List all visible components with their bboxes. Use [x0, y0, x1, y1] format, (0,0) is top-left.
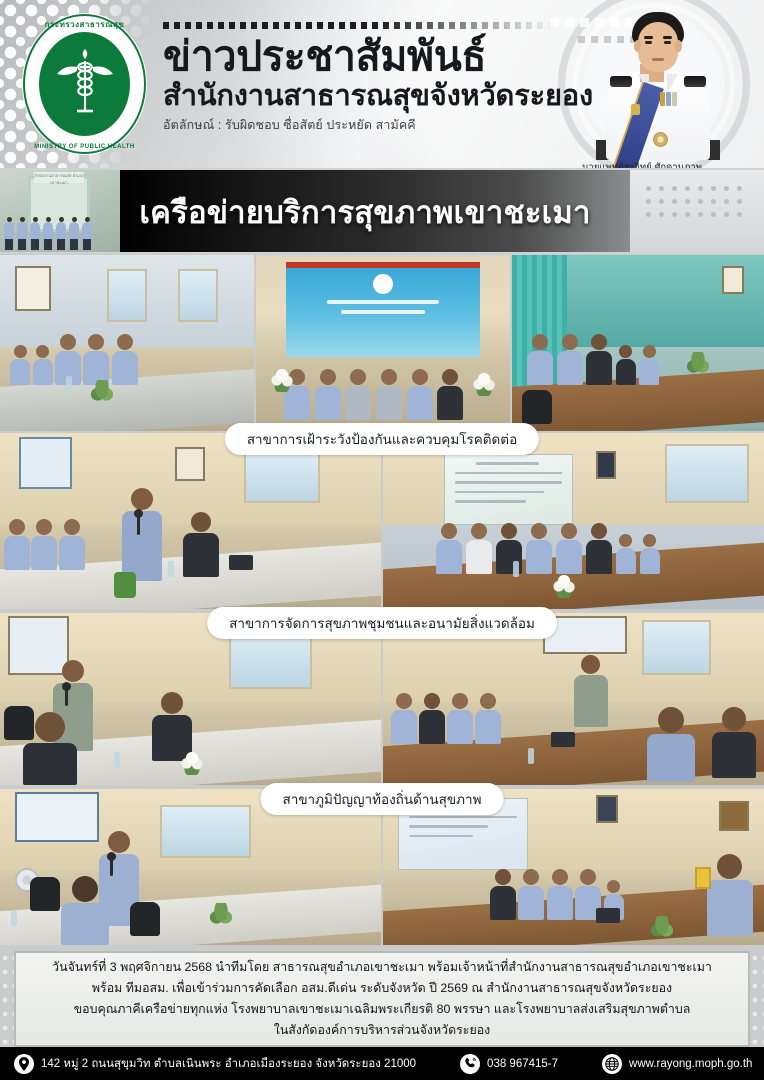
photo-window — [665, 444, 749, 504]
photo-green-box — [114, 572, 136, 598]
band-photo-person — [30, 222, 40, 250]
page-title: ข่าวประชาสัมพันธ์ — [163, 33, 563, 79]
photo-chair — [130, 902, 160, 936]
photo-plant — [651, 916, 673, 942]
photo-screen-line — [409, 816, 517, 819]
photo-chair — [30, 877, 60, 911]
band-dot-pattern — [642, 182, 746, 222]
photo-award-recipients — [284, 369, 440, 420]
portrait-eye-right — [664, 41, 671, 44]
photo-poster — [15, 792, 99, 842]
photo-plant — [91, 380, 113, 406]
portrait-brow-left — [644, 36, 653, 39]
poster-root: กระทรวงสาธารณสุข MINISTRY OF PUBLIC HEAL… — [0, 0, 764, 1080]
photo-person — [616, 345, 636, 385]
photo-person — [556, 523, 582, 574]
photo-meeting-room-1 — [0, 255, 254, 431]
portrait-medal-1 — [660, 92, 665, 106]
photo-person — [4, 519, 30, 570]
photo-wall-emblem — [719, 801, 749, 831]
photo-person — [183, 512, 219, 577]
photo-person — [391, 693, 417, 744]
band-photo-person — [4, 222, 14, 250]
photo-screen-line — [409, 825, 488, 828]
photo-chair — [4, 706, 34, 740]
photo-person — [33, 345, 53, 385]
footer-website: www.rayong.moph.go.th — [629, 1058, 752, 1070]
photo-person — [616, 534, 636, 574]
portrait-ear-left — [634, 40, 641, 52]
photo-poster — [19, 437, 72, 490]
photo-flowers — [269, 366, 295, 392]
photo-row-1 — [0, 255, 764, 431]
photo-person — [526, 523, 552, 574]
photo-wall-plaque — [596, 451, 616, 479]
photo-water-bottle — [11, 910, 17, 926]
photo-laptop — [551, 732, 575, 747]
photo-banner-seal — [373, 274, 393, 294]
body-dot-pattern-left — [0, 951, 14, 1047]
portrait-face — [638, 22, 678, 72]
network-title: เครือข่ายบริการสุขภาพเขาชะเมา — [130, 186, 600, 238]
photo-laptop — [596, 908, 620, 923]
seal-text-bottom: MINISTRY OF PUBLIC HEALTH — [23, 144, 146, 150]
portrait-epaulette-left — [610, 76, 632, 87]
photo-person — [10, 345, 30, 385]
photo-person — [112, 334, 138, 385]
photo-flowers — [551, 572, 577, 598]
header-banner: กระทรวงสาธารณสุข MINISTRY OF PUBLIC HEAL… — [0, 0, 764, 168]
photo-window — [178, 269, 219, 322]
photo-banner-line — [327, 300, 439, 304]
photo-microphone — [65, 688, 68, 706]
photo-person — [407, 369, 433, 420]
portrait-order-star — [653, 132, 668, 147]
photo-plant — [687, 352, 709, 378]
photo-person — [490, 869, 516, 920]
band-photo-sign: สำนักงานสาธารณสุข อำเภอเขาชะเมา — [34, 172, 84, 183]
portrait-collar-right — [667, 74, 678, 94]
caduceus-icon — [55, 47, 115, 121]
portrait-mouth — [652, 58, 664, 61]
portrait-medal-2 — [666, 92, 671, 106]
footer-website-group[interactable]: www.rayong.moph.go.th — [602, 1054, 752, 1074]
caption-pill-3: สาขาภูมิปัญญาท้องถิ่นด้านสุขภาพ — [260, 783, 503, 815]
band-right-plate — [630, 170, 764, 252]
band-photo-person — [82, 222, 92, 250]
photo-water-bottle — [168, 561, 174, 577]
portrait-badge — [631, 104, 640, 115]
body-dot-pattern-right — [750, 951, 764, 1047]
photo-person — [518, 869, 544, 920]
photo-person — [436, 523, 462, 574]
band-photo-person — [69, 222, 79, 250]
page-subtitle: สำนักงานสาธารณสุขจังหวัดระยอง — [163, 79, 563, 113]
photo-screen-line — [455, 491, 544, 494]
footer-address-group: 142 หมู่ 2 ถนนสุขุมวิท ตำบลเนินพระ อำเภอ… — [14, 1054, 416, 1074]
footer-phone: 038 967415-7 — [487, 1058, 558, 1070]
photo-person — [586, 523, 612, 574]
photo-water-bottle — [528, 748, 534, 764]
photo-person — [31, 519, 57, 570]
photo-foreground-person — [61, 876, 109, 945]
photo-person — [447, 693, 473, 744]
photo-person — [466, 523, 492, 574]
portrait-epaulette-right — [684, 76, 706, 87]
photo-award-group — [256, 255, 510, 431]
photo-attendees — [436, 523, 632, 574]
photo-window — [244, 451, 320, 504]
photo-microphone — [137, 515, 140, 535]
photo-person — [557, 334, 583, 385]
identity-tagline: อัตลักษณ์ : รับผิดชอบ ซื่อสัตย์ ประหยัด … — [163, 116, 563, 134]
photo-person — [83, 334, 109, 385]
photo-person — [586, 334, 612, 385]
photo-person — [437, 369, 463, 420]
photo-row-2 — [0, 433, 764, 609]
photo-person — [527, 334, 553, 385]
portrait-brow-right — [663, 36, 672, 39]
photo-person — [315, 369, 341, 420]
photo-flowers — [179, 749, 205, 775]
photo-attendees — [490, 869, 614, 920]
photo-person — [639, 345, 659, 385]
photo-water-bottle — [513, 561, 519, 577]
photo-window — [160, 805, 251, 858]
globe-icon — [602, 1054, 622, 1074]
header-title-group: ข่าวประชาสัมพันธ์ สำนักงานสาธารณสุขจังหว… — [163, 22, 563, 134]
photo-banner-line — [341, 310, 426, 314]
photo-screen-line — [476, 462, 540, 465]
footer-address: 142 หมู่ 2 ถนนสุขุมวิท ตำบลเนินพระ อำเภอ… — [41, 1055, 416, 1073]
portrait-head — [632, 12, 684, 74]
footer-phone-group[interactable]: 038 967415-7 — [460, 1054, 558, 1074]
body-line-3: ขอบคุณภาคีเครือข่ายทุกแห่ง โรงพยาบาลเขาช… — [74, 1000, 691, 1019]
photo-flowers — [471, 370, 497, 396]
photo-foreground-person — [647, 707, 695, 782]
photo-plant — [210, 903, 232, 929]
photo-attendees — [4, 519, 82, 570]
photo-presentation-audience — [383, 433, 764, 609]
band-photo-person — [56, 222, 66, 250]
portrait-eye-left — [645, 41, 652, 44]
phone-icon — [460, 1054, 480, 1074]
seal-text-top: กระทรวงสาธารณสุข — [23, 18, 146, 31]
photo-standing-speaker — [574, 655, 608, 727]
photo-chair — [522, 390, 552, 424]
portrait-medal-3 — [672, 92, 677, 106]
photo-speaker-microphone — [0, 433, 381, 609]
photo-screen-line — [455, 481, 563, 484]
photo-wall-plaque — [596, 795, 618, 823]
official-portrait — [598, 0, 718, 160]
photo-yellow-card — [695, 867, 711, 889]
photo-screen-line — [455, 472, 563, 475]
header-dotted-rule — [163, 22, 555, 29]
body-text-box: วันจันทร์ที่ 3 พฤศจิกายน 2568 นำทีมโดย ส… — [14, 951, 750, 1047]
photo-projector-screen — [444, 454, 574, 524]
band-side-photo: สำนักงานสาธารณสุข อำเภอเขาชะเมา — [0, 170, 120, 252]
location-pin-icon — [14, 1054, 34, 1074]
photo-foreground-person — [712, 707, 756, 778]
photo-standing-speaker — [122, 488, 162, 581]
photo-wall-frame — [175, 447, 205, 481]
body-line-2: พร้อม ทีมอสม. เพื่อเข้าร่วมการคัดเลือก อ… — [92, 979, 672, 998]
photo-grid: สาขาการเฝ้าระวังป้องกันและควบคุมโรคติดต่… — [0, 255, 764, 945]
photo-screen-line — [409, 835, 473, 838]
portrait-ear-right — [675, 40, 682, 52]
photo-screen-line — [455, 500, 526, 503]
caption-pill-2: สาขาการจัดการสุขภาพชุมชนและอนามัยสิ่งแวด… — [207, 607, 557, 639]
photo-whiteboard — [15, 266, 51, 312]
band-photo-person — [17, 222, 27, 250]
photo-person — [640, 534, 660, 574]
caption-pill-1: สาขาการเฝ้าระวังป้องกันและควบคุมโรคติดต่… — [225, 423, 539, 455]
photo-water-bottle — [66, 376, 72, 392]
photo-attendees — [527, 334, 645, 385]
footer-bar: 142 หมู่ 2 ถนนสุขุมวิท ตำบลเนินพระ อำเภอ… — [0, 1047, 764, 1080]
photo-person — [547, 869, 573, 920]
photo-window — [642, 620, 711, 675]
photo-attendees — [391, 693, 495, 744]
photo-water-bottle — [114, 752, 120, 768]
photo-person — [345, 369, 371, 420]
photo-backdrop-banner — [286, 262, 479, 357]
photo-person — [376, 369, 402, 420]
photo-person — [59, 519, 85, 570]
photo-royal-portrait — [722, 266, 744, 294]
photo-laptop — [229, 555, 253, 570]
photo-meeting-room-2 — [512, 255, 764, 431]
band-photo-staff-group — [4, 222, 92, 250]
photo-person — [475, 693, 501, 744]
body-line-4: ในสังกัดองค์การบริหารส่วนจังหวัดระยอง — [274, 1021, 490, 1040]
body-line-1: วันจันทร์ที่ 3 พฤศจิกายน 2568 นำทีมโดย ส… — [52, 958, 712, 977]
photo-window — [107, 269, 148, 322]
moph-seal-icon: กระทรวงสาธารณสุข MINISTRY OF PUBLIC HEAL… — [23, 14, 146, 154]
photo-person — [419, 693, 445, 744]
photo-foreground-person — [707, 854, 753, 936]
band-photo-person — [43, 222, 53, 250]
